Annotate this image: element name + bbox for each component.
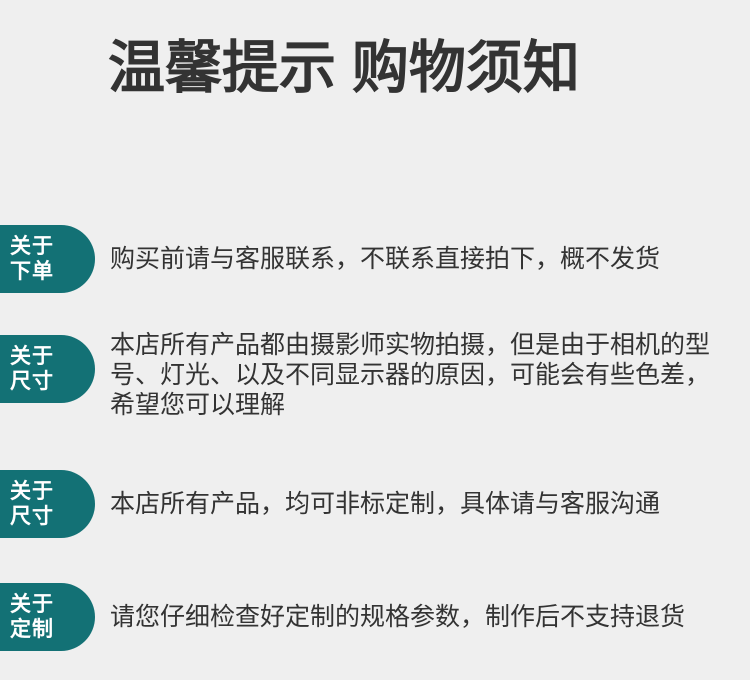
badge-line-2: 下单 (10, 259, 95, 284)
notice-row: 关于 下单 购买前请与客服联系，不联系直接拍下，概不发货 (0, 225, 750, 297)
badge-line-2: 尺寸 (10, 369, 95, 394)
badge-line-2: 尺寸 (10, 504, 95, 529)
notice-row: 关于 定制 请您仔细检查好定制的规格参数，制作后不支持退货 (0, 583, 750, 655)
notice-text: 本店所有产品，均可非标定制，具体请与客服沟通 (110, 489, 746, 519)
notice-text-line: 本店所有产品，均可非标定制，具体请与客服沟通 (110, 489, 746, 519)
notice-badge-about-size-2: 关于 尺寸 (0, 470, 95, 538)
badge-line-1: 关于 (10, 592, 95, 617)
badge-line-2: 定制 (10, 617, 95, 642)
notice-text: 本店所有产品都由摄影师实物拍摄，但是由于相机的型 号、灯光、以及不同显示器的原因… (110, 330, 746, 420)
notice-text-line: 本店所有产品都由摄影师实物拍摄，但是由于相机的型 (110, 330, 746, 360)
notice-row: 关于 尺寸 本店所有产品，均可非标定制，具体请与客服沟通 (0, 470, 750, 542)
notice-text-line: 购买前请与客服联系，不联系直接拍下，概不发货 (110, 244, 746, 274)
badge-line-1: 关于 (10, 479, 95, 504)
notice-badge-about-custom: 关于 定制 (0, 583, 95, 651)
notice-text: 购买前请与客服联系，不联系直接拍下，概不发货 (110, 244, 746, 274)
notice-text-line: 请您仔细检查好定制的规格参数，制作后不支持退货 (110, 602, 746, 632)
notice-badge-about-size-1: 关于 尺寸 (0, 335, 95, 403)
notice-list: 关于 下单 购买前请与客服联系，不联系直接拍下，概不发货 关于 尺寸 本店所有产… (0, 0, 750, 680)
notice-text-line: 号、灯光、以及不同显示器的原因，可能会有些色差， (110, 360, 746, 390)
badge-line-1: 关于 (10, 234, 95, 259)
notice-row: 关于 尺寸 本店所有产品都由摄影师实物拍摄，但是由于相机的型 号、灯光、以及不同… (0, 335, 750, 407)
notice-page: 温馨提示 购物须知 关于 下单 购买前请与客服联系，不联系直接拍下，概不发货 关… (0, 0, 750, 680)
notice-text-line: 希望您可以理解 (110, 390, 746, 420)
notice-text: 请您仔细检查好定制的规格参数，制作后不支持退货 (110, 602, 746, 632)
notice-badge-about-order: 关于 下单 (0, 225, 95, 293)
badge-line-1: 关于 (10, 344, 95, 369)
